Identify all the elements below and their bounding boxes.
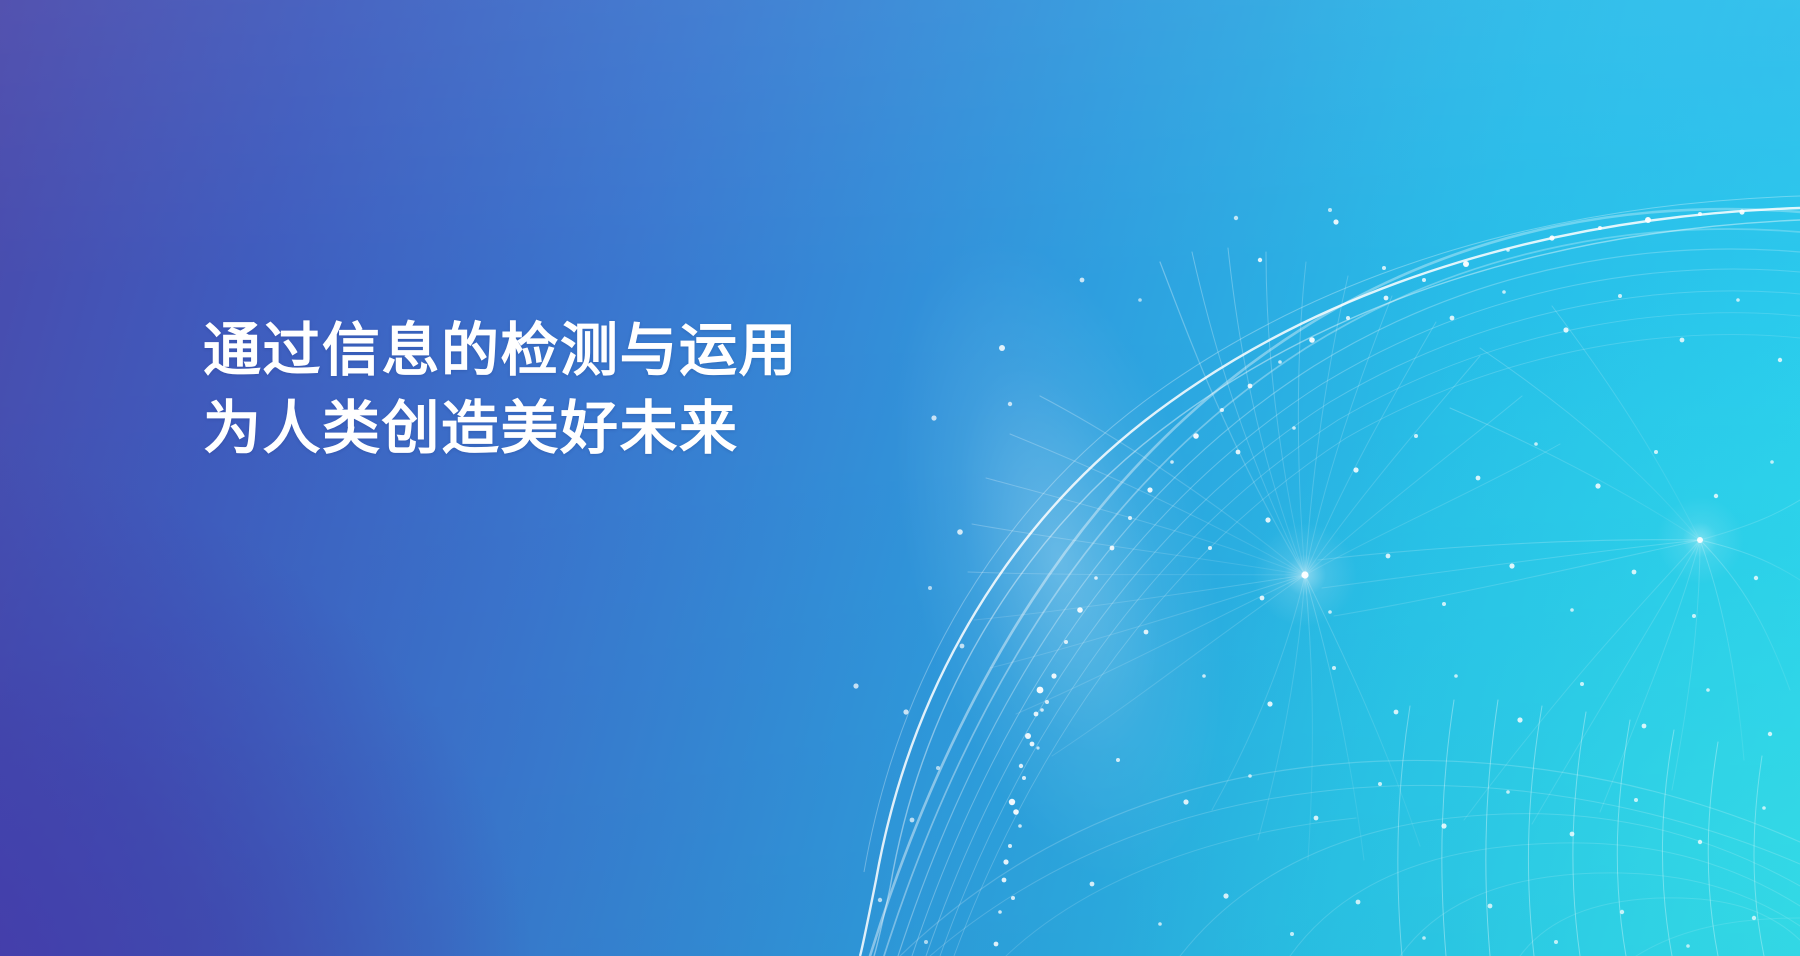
headline-line-1: 通过信息的检测与运用 [203,312,798,390]
hero-banner: 通过信息的检测与运用 为人类创造美好未来 [0,0,1800,956]
background-sheen-overlay [0,0,1800,956]
headline-line-2: 为人类创造美好未来 [203,390,798,468]
headline: 通过信息的检测与运用 为人类创造美好未来 [203,312,798,468]
